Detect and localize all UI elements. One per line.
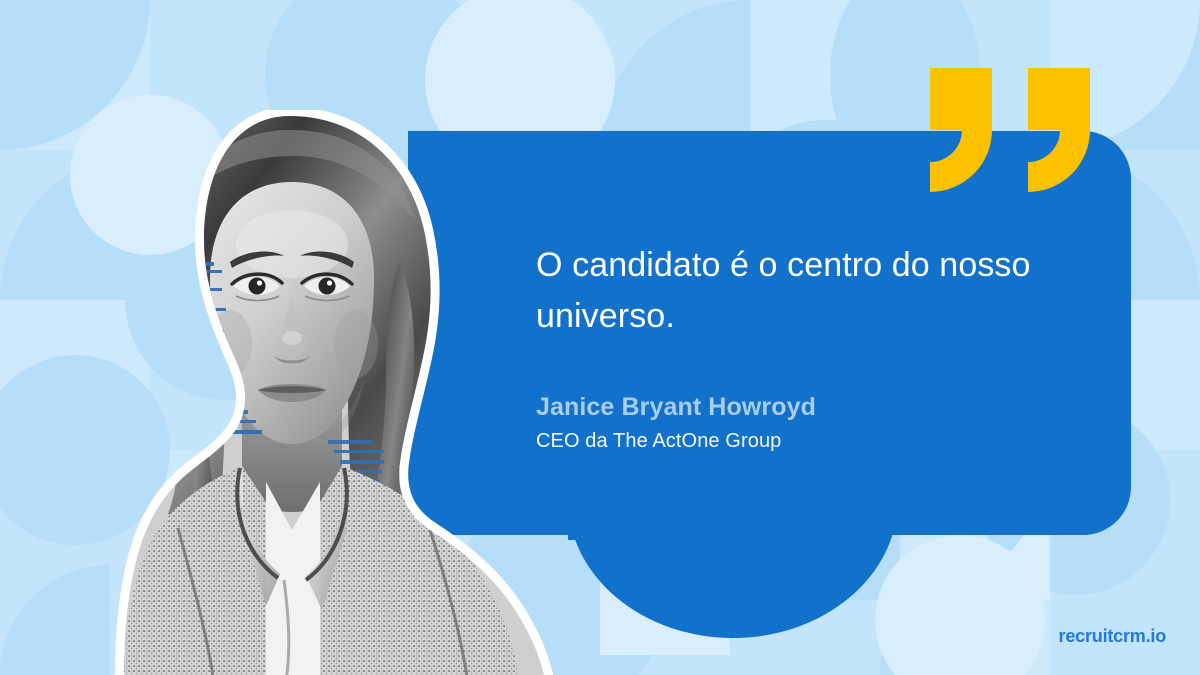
brand-logo: recruitcrm.io [1059,626,1166,647]
quote-text-block: O candidato é o centro do nosso universo… [536,240,1056,342]
portrait-photo [28,110,558,675]
quote-card-canvas: O candidato é o centro do nosso universo… [0,0,1200,675]
quote-text: O candidato é o centro do nosso universo… [536,240,1056,342]
attribution-block: Janice Bryant Howroyd CEO da The ActOne … [536,390,1056,456]
author-name: Janice Bryant Howroyd [536,390,1056,424]
double-closing-quote-icon [930,68,1090,192]
author-title: CEO da The ActOne Group [536,426,1056,456]
